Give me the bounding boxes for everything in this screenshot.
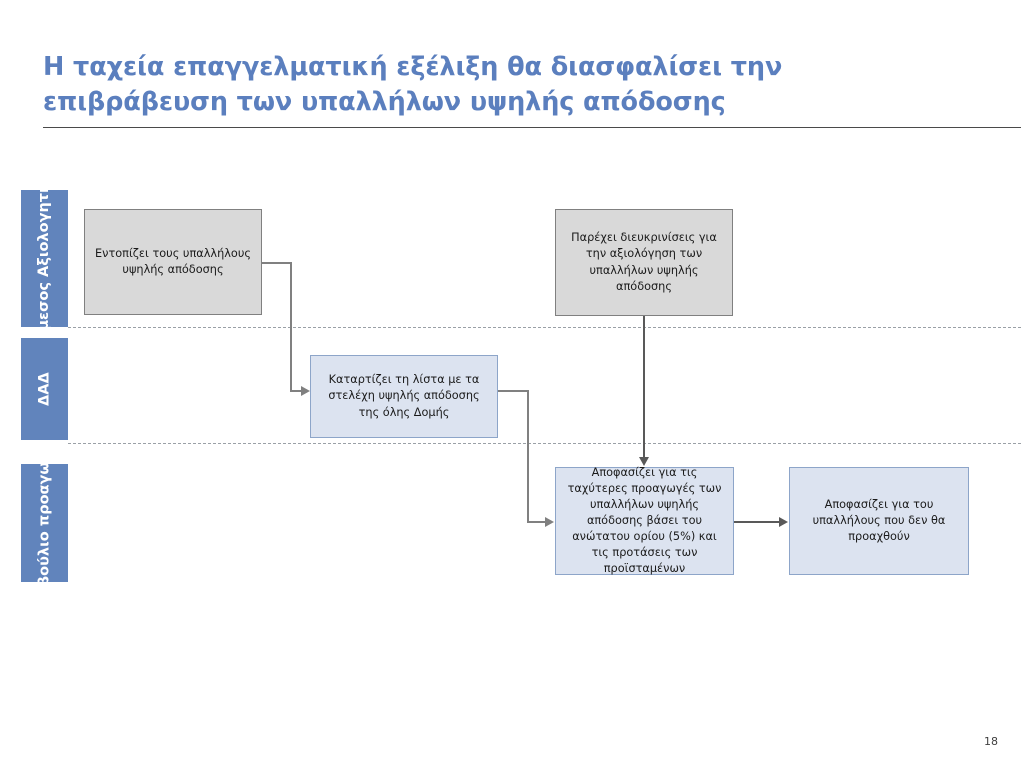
connector-compile-to-decide-segment (498, 390, 528, 392)
arrowhead-right-icon (779, 517, 788, 527)
swimlane-label-text: Συμβούλιο προαγωγών (36, 464, 52, 582)
connector-compile-to-decide-segment (527, 390, 529, 522)
process-box-compile-list[interactable]: Καταρτίζει τη λίστα με τα στελέχη υψηλής… (310, 355, 498, 438)
connector-compile-to-decide-segment (527, 521, 546, 523)
swimlane-divider (68, 327, 1021, 328)
swimlane-label-text: Άμεσος Αξιολογητής (36, 190, 52, 327)
connector-identify-to-compile-segment (262, 262, 292, 264)
page-number: 18 (984, 735, 998, 748)
swimlane-label-text: ΔΑΔ (36, 372, 52, 406)
process-box-decide-not-promoted[interactable]: Αποφασίζει για του υπαλλήλους που δεν θα… (789, 467, 969, 575)
swimlane-label-immediate-evaluator: Άμεσος Αξιολογητής (21, 190, 68, 327)
process-box-identify-high-performers[interactable]: Εντοπίζει τους υπαλλήλους υψηλής απόδοση… (84, 209, 262, 315)
swimlane-label-promotions-council: Συμβούλιο προαγωγών (21, 464, 68, 582)
process-box-provide-clarifications[interactable]: Παρέχει διευκρινίσεις για την αξιολόγηση… (555, 209, 733, 316)
arrowhead-right-icon (301, 386, 310, 396)
swimlane-label-dad: ΔΑΔ (21, 338, 68, 440)
arrowhead-down-icon (639, 457, 649, 466)
process-box-decide-fast-promotions[interactable]: Αποφασίζει για τις ταχύτερες προαγωγές τ… (555, 467, 734, 575)
swimlane-divider (68, 443, 1021, 444)
page-title: Η ταχεία επαγγελματική εξέλιξη θα διασφα… (43, 50, 973, 119)
arrowhead-right-icon (545, 517, 554, 527)
connector-clarifications-to-decide (643, 316, 645, 459)
title-divider (43, 127, 1021, 128)
connector-decide-to-not-promoted (734, 521, 781, 523)
connector-identify-to-compile-segment (290, 262, 292, 391)
